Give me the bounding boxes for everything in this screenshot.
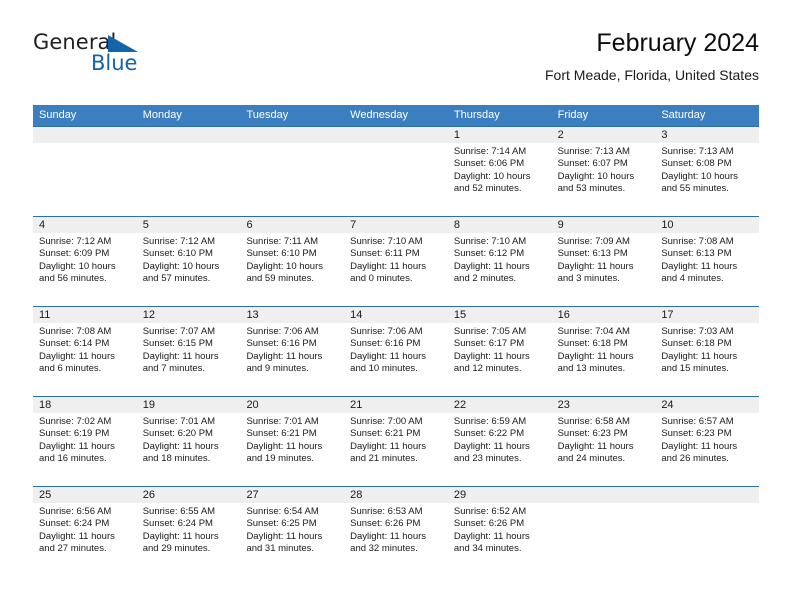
weekday-tuesday: Tuesday (240, 105, 344, 126)
day-number: 15 (454, 307, 546, 323)
sunset-text: Sunset: 6:18 PM (558, 338, 650, 350)
sunset-text: Sunset: 6:18 PM (661, 338, 753, 350)
daylight-text-line1: Daylight: 11 hours (246, 351, 338, 363)
sunset-text: Sunset: 6:20 PM (143, 428, 235, 440)
weekday-header-row: Sunday Monday Tuesday Wednesday Thursday… (33, 105, 759, 126)
day-number: 4 (39, 217, 131, 233)
daylight-text-line2: and 7 minutes. (143, 363, 235, 375)
sunset-text: Sunset: 6:19 PM (39, 428, 131, 440)
sunset-text: Sunset: 6:25 PM (246, 518, 338, 530)
daylight-text-line1: Daylight: 11 hours (143, 441, 235, 453)
daylight-text-line2: and 52 minutes. (454, 183, 546, 195)
daylight-text-line1: Daylight: 11 hours (558, 261, 650, 273)
sunrise-text: Sunrise: 6:57 AM (661, 416, 753, 428)
day-cell[interactable]: 25 Sunrise: 6:56 AM Sunset: 6:24 PM Dayl… (33, 487, 137, 579)
day-number: 9 (558, 217, 650, 233)
day-cell[interactable]: 6 Sunrise: 7:11 AM Sunset: 6:10 PM Dayli… (240, 217, 344, 306)
daylight-text-line2: and 16 minutes. (39, 453, 131, 465)
sunset-text: Sunset: 6:16 PM (350, 338, 442, 350)
title-block: February 2024 Fort Meade, Florida, Unite… (545, 28, 759, 84)
day-cell[interactable]: 4 Sunrise: 7:12 AM Sunset: 6:09 PM Dayli… (33, 217, 137, 306)
day-cell[interactable]: 29 Sunrise: 6:52 AM Sunset: 6:26 PM Dayl… (448, 487, 552, 579)
sunset-text: Sunset: 6:13 PM (558, 248, 650, 260)
sunrise-text: Sunrise: 7:05 AM (454, 326, 546, 338)
sunrise-text: Sunrise: 7:13 AM (558, 146, 650, 158)
day-cell[interactable]: 10 Sunrise: 7:08 AM Sunset: 6:13 PM Dayl… (655, 217, 759, 306)
day-number: 24 (661, 397, 753, 413)
sunrise-text: Sunrise: 7:01 AM (143, 416, 235, 428)
sunrise-text: Sunrise: 6:55 AM (143, 506, 235, 518)
location-subtitle: Fort Meade, Florida, United States (545, 67, 759, 84)
sunrise-text: Sunrise: 7:10 AM (350, 236, 442, 248)
daylight-text-line1: Daylight: 11 hours (661, 351, 753, 363)
brand-logo[interactable]: General Blue (33, 32, 263, 88)
sunset-text: Sunset: 6:23 PM (558, 428, 650, 440)
day-number: 23 (558, 397, 650, 413)
day-details: Sunrise: 6:56 AM Sunset: 6:24 PM Dayligh… (39, 506, 131, 555)
day-cell[interactable]: 13 Sunrise: 7:06 AM Sunset: 6:16 PM Dayl… (240, 307, 344, 396)
brand-name-general: General (33, 32, 116, 53)
day-details: Sunrise: 7:11 AM Sunset: 6:10 PM Dayligh… (246, 236, 338, 285)
day-cell[interactable]: 23 Sunrise: 6:58 AM Sunset: 6:23 PM Dayl… (552, 397, 656, 486)
day-details: Sunrise: 7:10 AM Sunset: 6:12 PM Dayligh… (454, 236, 546, 285)
daylight-text-line1: Daylight: 11 hours (246, 441, 338, 453)
day-number: 14 (350, 307, 442, 323)
daylight-text-line1: Daylight: 11 hours (246, 531, 338, 543)
sunset-text: Sunset: 6:16 PM (246, 338, 338, 350)
sunrise-text: Sunrise: 6:54 AM (246, 506, 338, 518)
daylight-text-line1: Daylight: 11 hours (350, 351, 442, 363)
day-number: 18 (39, 397, 131, 413)
sunrise-text: Sunrise: 7:00 AM (350, 416, 442, 428)
day-cell[interactable]: 16 Sunrise: 7:04 AM Sunset: 6:18 PM Dayl… (552, 307, 656, 396)
day-number: 19 (143, 397, 235, 413)
weekday-thursday: Thursday (448, 105, 552, 126)
daylight-text-line2: and 10 minutes. (350, 363, 442, 375)
sunrise-text: Sunrise: 7:13 AM (661, 146, 753, 158)
daylight-text-line2: and 2 minutes. (454, 273, 546, 285)
day-cell[interactable]: 18 Sunrise: 7:02 AM Sunset: 6:19 PM Dayl… (33, 397, 137, 486)
daylight-text-line1: Daylight: 11 hours (454, 441, 546, 453)
day-cell[interactable]: 28 Sunrise: 6:53 AM Sunset: 6:26 PM Dayl… (344, 487, 448, 579)
day-number: 7 (350, 217, 442, 233)
sunset-text: Sunset: 6:17 PM (454, 338, 546, 350)
daylight-text-line2: and 27 minutes. (39, 543, 131, 555)
daylight-text-line2: and 29 minutes. (143, 543, 235, 555)
day-cell[interactable]: 17 Sunrise: 7:03 AM Sunset: 6:18 PM Dayl… (655, 307, 759, 396)
day-details: Sunrise: 7:08 AM Sunset: 6:14 PM Dayligh… (39, 326, 131, 375)
day-details: Sunrise: 7:00 AM Sunset: 6:21 PM Dayligh… (350, 416, 442, 465)
page-title: February 2024 (545, 28, 759, 58)
day-details: Sunrise: 7:02 AM Sunset: 6:19 PM Dayligh… (39, 416, 131, 465)
sunrise-text: Sunrise: 7:12 AM (39, 236, 131, 248)
sunset-text: Sunset: 6:10 PM (143, 248, 235, 260)
weekday-sunday: Sunday (33, 105, 137, 126)
day-details: Sunrise: 7:01 AM Sunset: 6:20 PM Dayligh… (143, 416, 235, 465)
weekday-wednesday: Wednesday (344, 105, 448, 126)
daylight-text-line1: Daylight: 11 hours (661, 261, 753, 273)
day-cell[interactable]: 2 Sunrise: 7:13 AM Sunset: 6:07 PM Dayli… (552, 127, 656, 216)
day-number: 28 (350, 487, 442, 503)
day-number: 21 (350, 397, 442, 413)
daylight-text-line1: Daylight: 11 hours (558, 351, 650, 363)
day-cell[interactable] (655, 487, 759, 579)
day-details: Sunrise: 6:59 AM Sunset: 6:22 PM Dayligh… (454, 416, 546, 465)
triangle-logo-icon (108, 35, 138, 52)
day-details: Sunrise: 7:08 AM Sunset: 6:13 PM Dayligh… (661, 236, 753, 285)
day-details: Sunrise: 6:54 AM Sunset: 6:25 PM Dayligh… (246, 506, 338, 555)
day-cell[interactable] (33, 127, 137, 216)
day-number: 10 (661, 217, 753, 233)
day-number: 16 (558, 307, 650, 323)
day-cell[interactable] (240, 127, 344, 216)
day-number: 22 (454, 397, 546, 413)
day-number: 6 (246, 217, 338, 233)
weekday-friday: Friday (552, 105, 656, 126)
daylight-text-line2: and 21 minutes. (350, 453, 442, 465)
day-details: Sunrise: 7:04 AM Sunset: 6:18 PM Dayligh… (558, 326, 650, 375)
daylight-text-line2: and 6 minutes. (39, 363, 131, 375)
day-details: Sunrise: 7:07 AM Sunset: 6:15 PM Dayligh… (143, 326, 235, 375)
sunrise-text: Sunrise: 7:10 AM (454, 236, 546, 248)
day-details: Sunrise: 7:09 AM Sunset: 6:13 PM Dayligh… (558, 236, 650, 285)
day-cell[interactable]: 12 Sunrise: 7:07 AM Sunset: 6:15 PM Dayl… (137, 307, 241, 396)
daylight-text-line1: Daylight: 10 hours (39, 261, 131, 273)
calendar-week-row: 11 Sunrise: 7:08 AM Sunset: 6:14 PM Dayl… (33, 306, 759, 396)
sunrise-text: Sunrise: 6:56 AM (39, 506, 131, 518)
day-number: 27 (246, 487, 338, 503)
day-details: Sunrise: 7:06 AM Sunset: 6:16 PM Dayligh… (350, 326, 442, 375)
day-details: Sunrise: 7:12 AM Sunset: 6:10 PM Dayligh… (143, 236, 235, 285)
sunset-text: Sunset: 6:24 PM (143, 518, 235, 530)
daylight-text-line1: Daylight: 10 hours (143, 261, 235, 273)
daylight-text-line2: and 18 minutes. (143, 453, 235, 465)
weekday-saturday: Saturday (655, 105, 759, 126)
daylight-text-line2: and 24 minutes. (558, 453, 650, 465)
sunrise-text: Sunrise: 7:06 AM (350, 326, 442, 338)
day-details: Sunrise: 7:03 AM Sunset: 6:18 PM Dayligh… (661, 326, 753, 375)
sunset-text: Sunset: 6:09 PM (39, 248, 131, 260)
day-details: Sunrise: 7:13 AM Sunset: 6:08 PM Dayligh… (661, 146, 753, 195)
day-number: 13 (246, 307, 338, 323)
day-details: Sunrise: 7:06 AM Sunset: 6:16 PM Dayligh… (246, 326, 338, 375)
day-cell[interactable]: 7 Sunrise: 7:10 AM Sunset: 6:11 PM Dayli… (344, 217, 448, 306)
daylight-text-line2: and 9 minutes. (246, 363, 338, 375)
daylight-text-line2: and 12 minutes. (454, 363, 546, 375)
calendar-week-row: 25 Sunrise: 6:56 AM Sunset: 6:24 PM Dayl… (33, 486, 759, 579)
day-number: 17 (661, 307, 753, 323)
daylight-text-line2: and 56 minutes. (39, 273, 131, 285)
sunset-text: Sunset: 6:21 PM (246, 428, 338, 440)
sunset-text: Sunset: 6:26 PM (350, 518, 442, 530)
daylight-text-line2: and 23 minutes. (454, 453, 546, 465)
day-cell[interactable]: 24 Sunrise: 6:57 AM Sunset: 6:23 PM Dayl… (655, 397, 759, 486)
day-number: 26 (143, 487, 235, 503)
daylight-text-line2: and 31 minutes. (246, 543, 338, 555)
day-details: Sunrise: 7:14 AM Sunset: 6:06 PM Dayligh… (454, 146, 546, 195)
daylight-text-line1: Daylight: 11 hours (661, 441, 753, 453)
day-cell[interactable]: 27 Sunrise: 6:54 AM Sunset: 6:25 PM Dayl… (240, 487, 344, 579)
day-number: 1 (454, 127, 546, 143)
daylight-text-line2: and 32 minutes. (350, 543, 442, 555)
daylight-text-line1: Daylight: 11 hours (350, 261, 442, 273)
sunset-text: Sunset: 6:10 PM (246, 248, 338, 260)
day-number: 20 (246, 397, 338, 413)
day-number: 11 (39, 307, 131, 323)
day-cell[interactable]: 9 Sunrise: 7:09 AM Sunset: 6:13 PM Dayli… (552, 217, 656, 306)
day-cell[interactable]: 20 Sunrise: 7:01 AM Sunset: 6:21 PM Dayl… (240, 397, 344, 486)
sunrise-text: Sunrise: 7:12 AM (143, 236, 235, 248)
day-number: 3 (661, 127, 753, 143)
daylight-text-line1: Daylight: 11 hours (143, 351, 235, 363)
day-details: Sunrise: 6:53 AM Sunset: 6:26 PM Dayligh… (350, 506, 442, 555)
sunrise-text: Sunrise: 6:52 AM (454, 506, 546, 518)
daylight-text-line2: and 4 minutes. (661, 273, 753, 285)
day-number: 12 (143, 307, 235, 323)
sunrise-text: Sunrise: 6:58 AM (558, 416, 650, 428)
daylight-text-line2: and 0 minutes. (350, 273, 442, 285)
day-number: 5 (143, 217, 235, 233)
daylight-text-line2: and 19 minutes. (246, 453, 338, 465)
day-details: Sunrise: 7:12 AM Sunset: 6:09 PM Dayligh… (39, 236, 131, 285)
calendar-grid: Sunday Monday Tuesday Wednesday Thursday… (33, 105, 759, 579)
sunrise-text: Sunrise: 7:03 AM (661, 326, 753, 338)
day-cell[interactable]: 11 Sunrise: 7:08 AM Sunset: 6:14 PM Dayl… (33, 307, 137, 396)
weekday-monday: Monday (137, 105, 241, 126)
brand-name-blue: Blue (91, 53, 137, 74)
day-cell[interactable]: 15 Sunrise: 7:05 AM Sunset: 6:17 PM Dayl… (448, 307, 552, 396)
day-details: Sunrise: 6:57 AM Sunset: 6:23 PM Dayligh… (661, 416, 753, 465)
day-details: Sunrise: 7:13 AM Sunset: 6:07 PM Dayligh… (558, 146, 650, 195)
calendar-week-row: 1 Sunrise: 7:14 AM Sunset: 6:06 PM Dayli… (33, 126, 759, 216)
daylight-text-line1: Daylight: 11 hours (350, 441, 442, 453)
daylight-text-line1: Daylight: 11 hours (143, 531, 235, 543)
daylight-text-line1: Daylight: 11 hours (39, 531, 131, 543)
day-details: Sunrise: 6:52 AM Sunset: 6:26 PM Dayligh… (454, 506, 546, 555)
daylight-text-line1: Daylight: 10 hours (454, 171, 546, 183)
sunrise-text: Sunrise: 7:09 AM (558, 236, 650, 248)
day-details: Sunrise: 7:10 AM Sunset: 6:11 PM Dayligh… (350, 236, 442, 285)
sunset-text: Sunset: 6:21 PM (350, 428, 442, 440)
daylight-text-line2: and 34 minutes. (454, 543, 546, 555)
day-number: 29 (454, 487, 546, 503)
sunrise-text: Sunrise: 7:04 AM (558, 326, 650, 338)
day-number: 8 (454, 217, 546, 233)
sunset-text: Sunset: 6:11 PM (350, 248, 442, 260)
sunrise-text: Sunrise: 7:08 AM (39, 326, 131, 338)
sunrise-text: Sunrise: 6:59 AM (454, 416, 546, 428)
sunset-text: Sunset: 6:22 PM (454, 428, 546, 440)
daylight-text-line1: Daylight: 11 hours (350, 531, 442, 543)
daylight-text-line2: and 53 minutes. (558, 183, 650, 195)
day-details: Sunrise: 7:05 AM Sunset: 6:17 PM Dayligh… (454, 326, 546, 375)
sunrise-text: Sunrise: 7:11 AM (246, 236, 338, 248)
day-cell[interactable]: 5 Sunrise: 7:12 AM Sunset: 6:10 PM Dayli… (137, 217, 241, 306)
calendar-week-row: 4 Sunrise: 7:12 AM Sunset: 6:09 PM Dayli… (33, 216, 759, 306)
daylight-text-line2: and 15 minutes. (661, 363, 753, 375)
day-details: Sunrise: 6:58 AM Sunset: 6:23 PM Dayligh… (558, 416, 650, 465)
sunset-text: Sunset: 6:15 PM (143, 338, 235, 350)
day-cell[interactable]: 19 Sunrise: 7:01 AM Sunset: 6:20 PM Dayl… (137, 397, 241, 486)
sunset-text: Sunset: 6:06 PM (454, 158, 546, 170)
daylight-text-line2: and 3 minutes. (558, 273, 650, 285)
sunrise-text: Sunrise: 7:02 AM (39, 416, 131, 428)
sunset-text: Sunset: 6:07 PM (558, 158, 650, 170)
daylight-text-line1: Daylight: 10 hours (246, 261, 338, 273)
day-cell[interactable]: 22 Sunrise: 6:59 AM Sunset: 6:22 PM Dayl… (448, 397, 552, 486)
day-cell[interactable]: 21 Sunrise: 7:00 AM Sunset: 6:21 PM Dayl… (344, 397, 448, 486)
daylight-text-line2: and 57 minutes. (143, 273, 235, 285)
day-number: 2 (558, 127, 650, 143)
daylight-text-line1: Daylight: 11 hours (454, 261, 546, 273)
day-details: Sunrise: 6:55 AM Sunset: 6:24 PM Dayligh… (143, 506, 235, 555)
day-number: 25 (39, 487, 131, 503)
daylight-text-line1: Daylight: 10 hours (558, 171, 650, 183)
sunrise-text: Sunrise: 7:07 AM (143, 326, 235, 338)
sunset-text: Sunset: 6:24 PM (39, 518, 131, 530)
daylight-text-line1: Daylight: 11 hours (39, 351, 131, 363)
day-cell[interactable] (552, 487, 656, 579)
sunrise-text: Sunrise: 6:53 AM (350, 506, 442, 518)
daylight-text-line2: and 13 minutes. (558, 363, 650, 375)
day-cell[interactable]: 1 Sunrise: 7:14 AM Sunset: 6:06 PM Dayli… (448, 127, 552, 216)
sunrise-text: Sunrise: 7:06 AM (246, 326, 338, 338)
daylight-text-line1: Daylight: 11 hours (558, 441, 650, 453)
daylight-text-line1: Daylight: 10 hours (661, 171, 753, 183)
day-cell[interactable]: 3 Sunrise: 7:13 AM Sunset: 6:08 PM Dayli… (655, 127, 759, 216)
day-details: Sunrise: 7:01 AM Sunset: 6:21 PM Dayligh… (246, 416, 338, 465)
sunrise-text: Sunrise: 7:14 AM (454, 146, 546, 158)
day-cell[interactable] (344, 127, 448, 216)
sunrise-text: Sunrise: 7:08 AM (661, 236, 753, 248)
daylight-text-line1: Daylight: 11 hours (454, 351, 546, 363)
sunset-text: Sunset: 6:12 PM (454, 248, 546, 260)
calendar-week-row: 18 Sunrise: 7:02 AM Sunset: 6:19 PM Dayl… (33, 396, 759, 486)
day-cell[interactable]: 26 Sunrise: 6:55 AM Sunset: 6:24 PM Dayl… (137, 487, 241, 579)
daylight-text-line2: and 59 minutes. (246, 273, 338, 285)
page-header: General Blue February 2024 Fort Meade, F… (33, 28, 759, 100)
daylight-text-line1: Daylight: 11 hours (39, 441, 131, 453)
daylight-text-line1: Daylight: 11 hours (454, 531, 546, 543)
sunset-text: Sunset: 6:23 PM (661, 428, 753, 440)
sunset-text: Sunset: 6:13 PM (661, 248, 753, 260)
daylight-text-line2: and 26 minutes. (661, 453, 753, 465)
sunset-text: Sunset: 6:14 PM (39, 338, 131, 350)
sunrise-text: Sunrise: 7:01 AM (246, 416, 338, 428)
daylight-text-line2: and 55 minutes. (661, 183, 753, 195)
sunset-text: Sunset: 6:08 PM (661, 158, 753, 170)
day-cell[interactable] (137, 127, 241, 216)
day-cell[interactable]: 14 Sunrise: 7:06 AM Sunset: 6:16 PM Dayl… (344, 307, 448, 396)
calendar-page: General Blue February 2024 Fort Meade, F… (0, 0, 792, 612)
sunset-text: Sunset: 6:26 PM (454, 518, 546, 530)
day-cell[interactable]: 8 Sunrise: 7:10 AM Sunset: 6:12 PM Dayli… (448, 217, 552, 306)
